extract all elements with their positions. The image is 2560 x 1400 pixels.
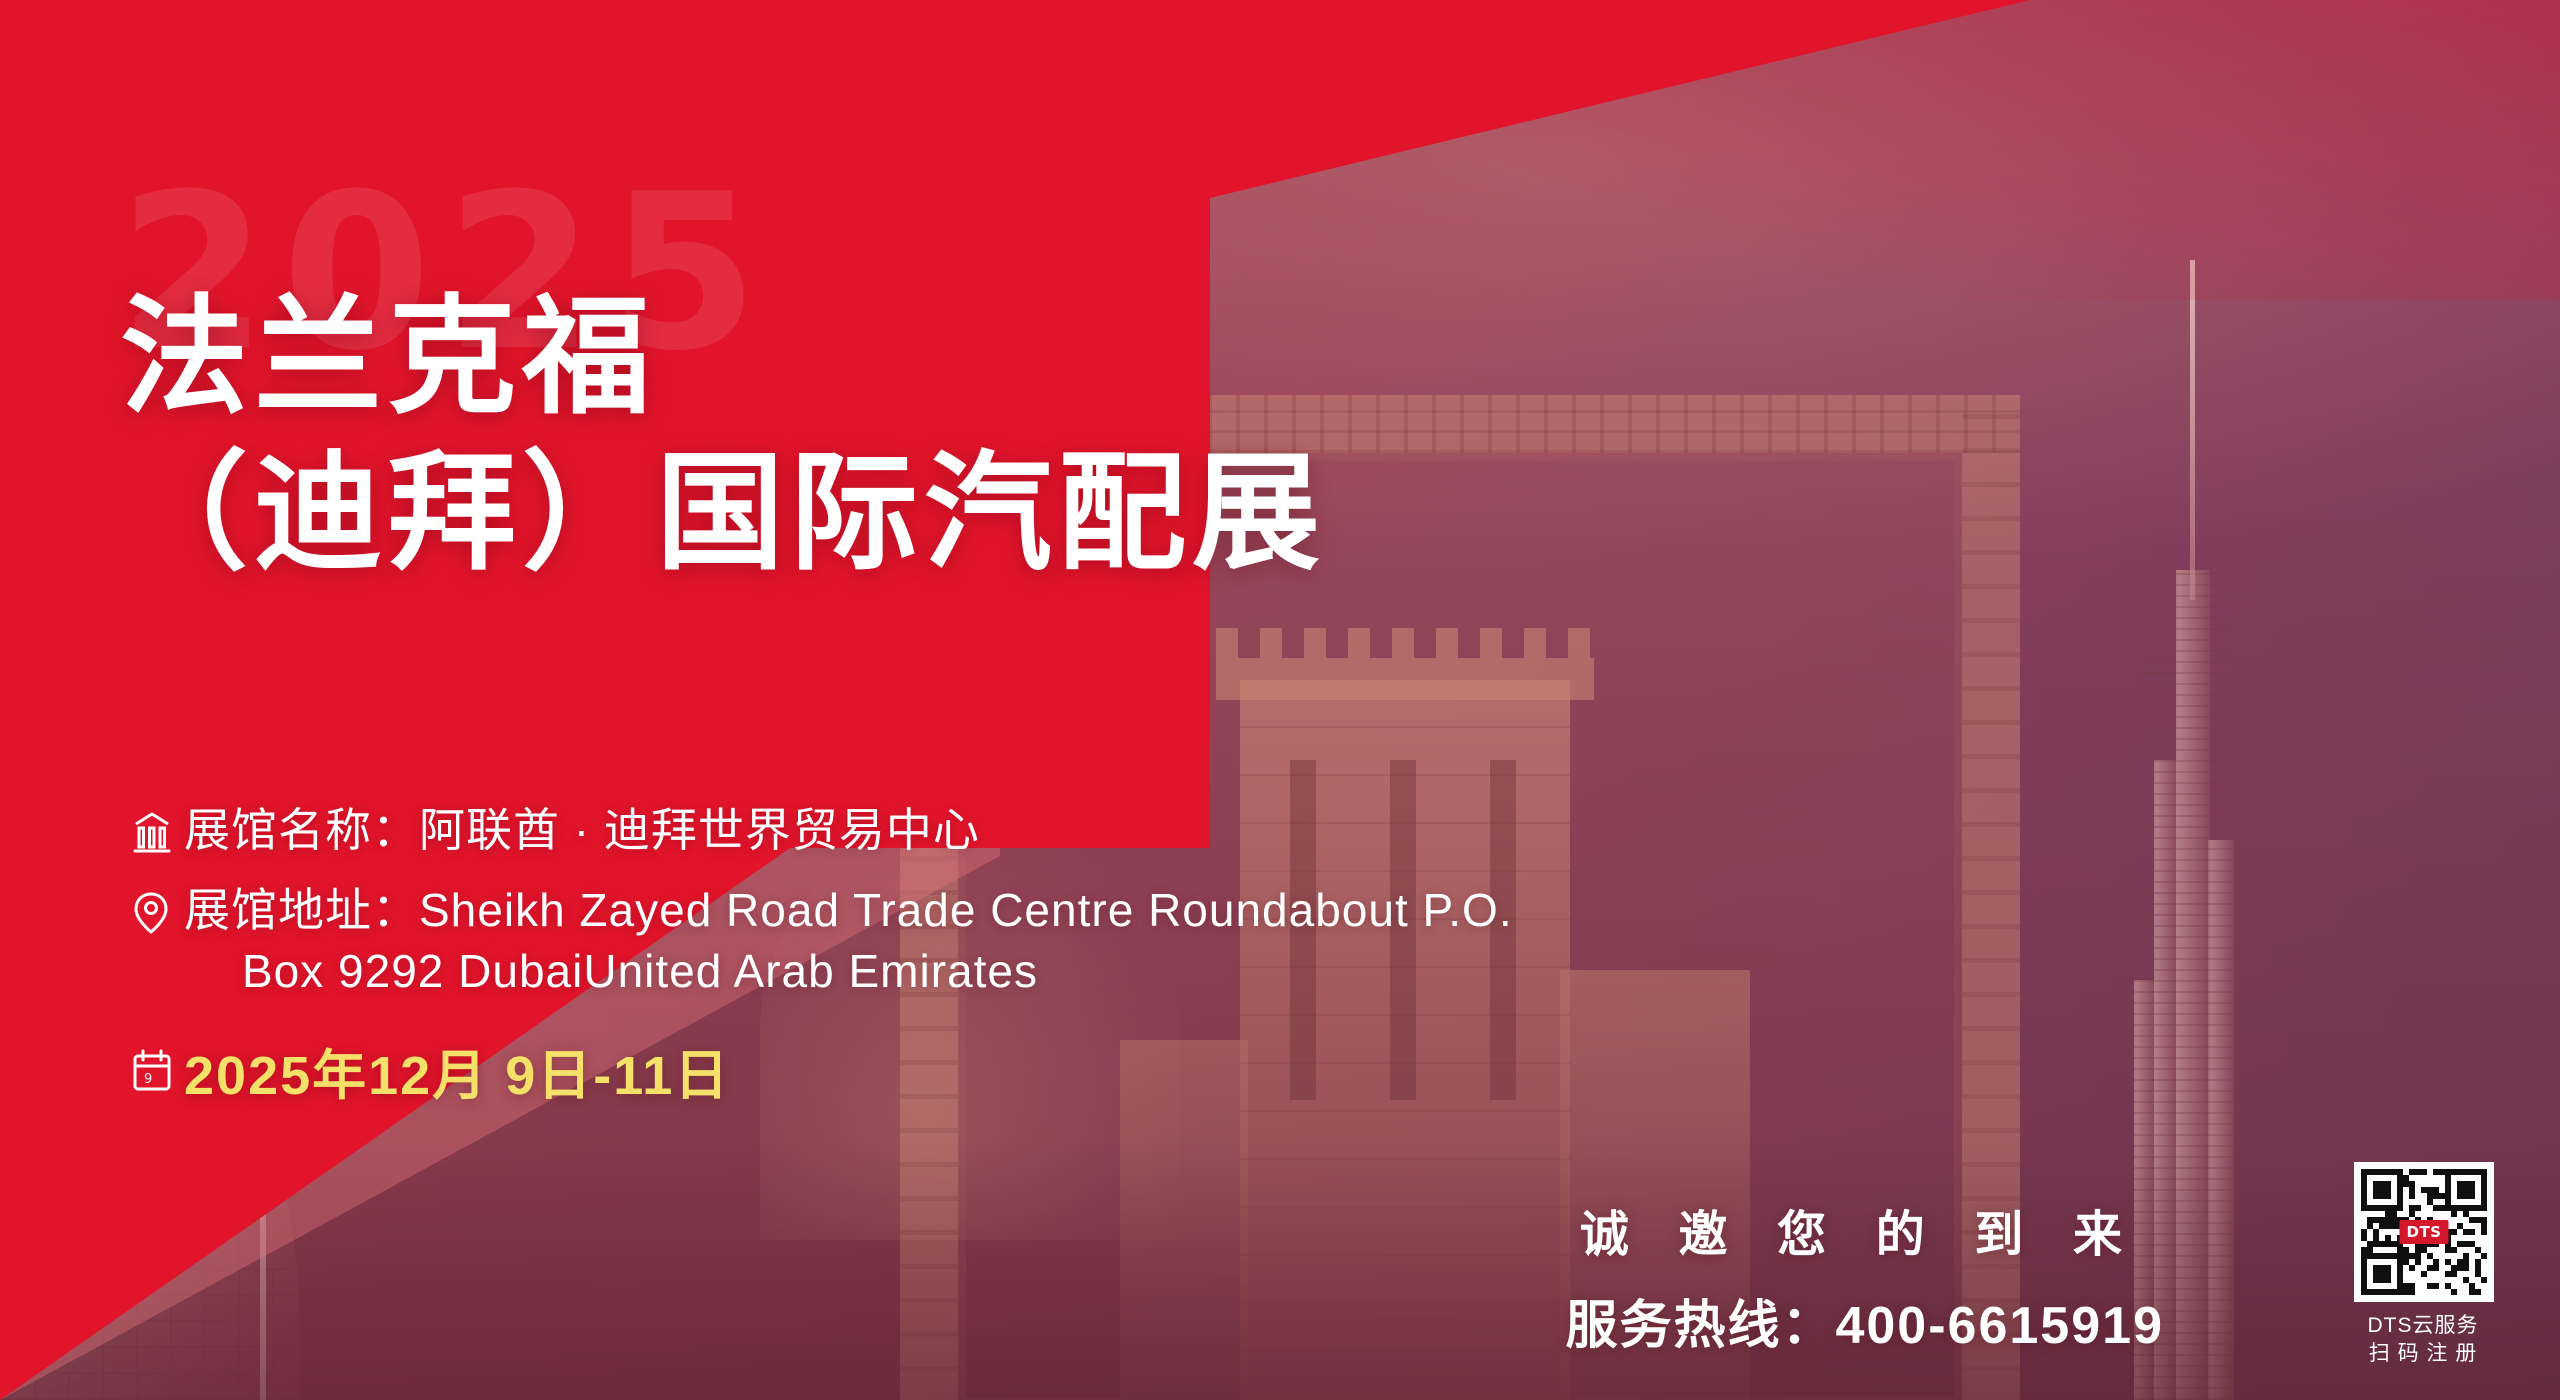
title-line-1: 法兰克福	[120, 280, 1326, 436]
qr-caption-line-1: DTS云服务	[2338, 1312, 2508, 1340]
qr-code-pattern: DTS	[2361, 1169, 2487, 1295]
address-row: 展馆地址：Sheikh Zayed Road Trade Centre Roun…	[130, 880, 2190, 1001]
map-pin-icon	[130, 882, 184, 944]
venue-label: 展馆名称：	[184, 804, 419, 856]
museum-icon	[130, 802, 184, 864]
qr-code[interactable]: DTS	[2354, 1162, 2494, 1302]
qr-logo: DTS	[2400, 1220, 2449, 1244]
svg-text:9: 9	[144, 1072, 152, 1087]
venue-value: 阿联酋 · 迪拜世界贸易中心	[419, 804, 980, 856]
date-row: 9 2025年12月 9日-11日	[130, 1031, 2190, 1110]
venue-row: 展馆名称：阿联酋 · 迪拜世界贸易中心	[130, 800, 2190, 864]
venue-text: 展馆名称：阿联酋 · 迪拜世界贸易中心	[184, 800, 980, 861]
qr-caption: DTS云服务 扫 码 注 册	[2338, 1312, 2508, 1369]
hotline-text: 服务热线：400-6615919	[1565, 1283, 2164, 1358]
poster-canvas: 2025 法兰克福 （迪拜）国际汽配展 展馆名称：阿联酋 · 迪拜世界贸易中心	[0, 0, 2560, 1400]
poster-title: 法兰克福 （迪拜）国际汽配展	[120, 280, 1326, 592]
info-block: 展馆名称：阿联酋 · 迪拜世界贸易中心 展馆地址：Sheikh Zayed Ro…	[130, 800, 2190, 1110]
invite-text: 诚 邀 您 的 到 来	[1580, 1195, 2140, 1266]
address-line-2: Box 9292 DubaiUnited Arab Emirates	[242, 941, 1513, 1002]
address-text: 展馆地址：Sheikh Zayed Road Trade Centre Roun…	[184, 880, 1513, 1001]
date-text: 2025年12月 9日-11日	[184, 1031, 730, 1110]
address-label: 展馆地址：	[184, 884, 419, 936]
address-line-1: Sheikh Zayed Road Trade Centre Roundabou…	[419, 884, 1513, 936]
calendar-icon: 9	[130, 1041, 184, 1103]
qr-caption-line-2: 扫 码 注 册	[2338, 1340, 2508, 1368]
title-line-2: （迪拜）国际汽配展	[120, 436, 1326, 592]
